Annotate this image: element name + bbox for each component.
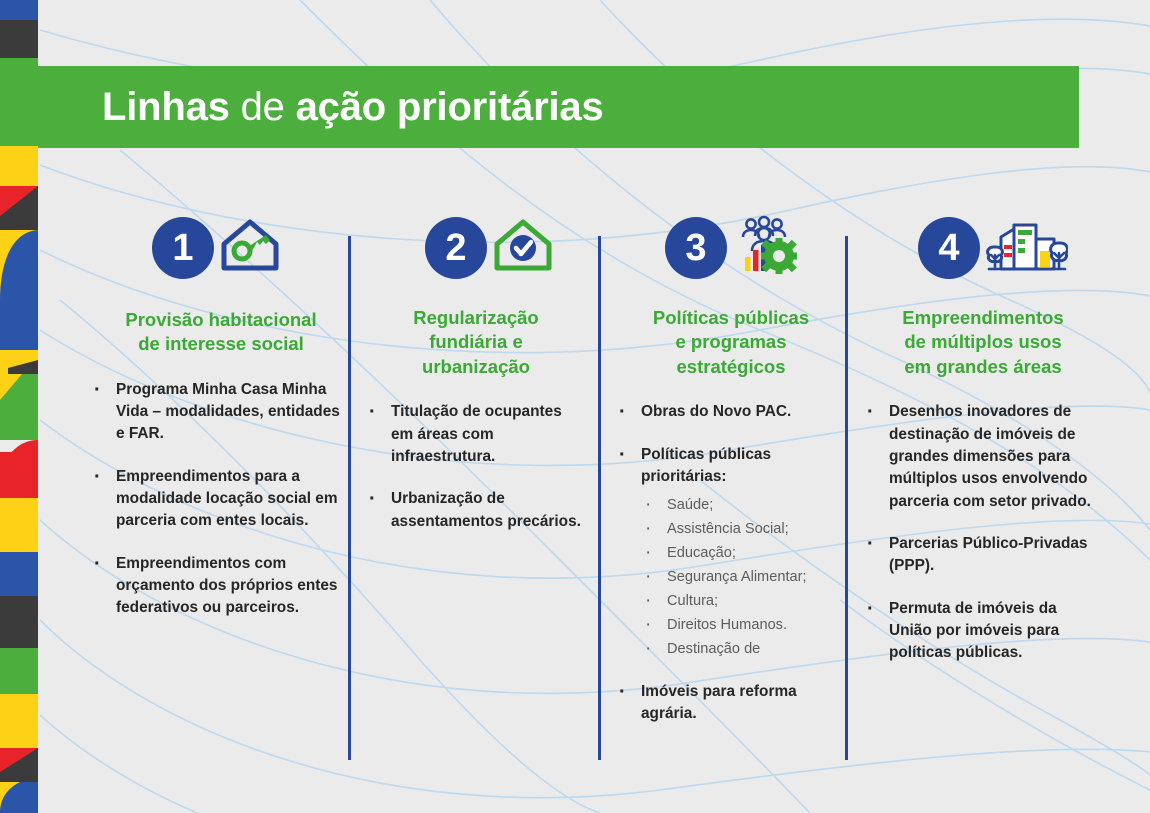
slide-canvas: Linhas de ação prioritárias 1 Provisão h… xyxy=(0,0,1150,813)
list-item: Permuta de imóveis da União por imóveis … xyxy=(863,598,1103,665)
column-1-heading-line-1: Provisão habitacional xyxy=(90,308,352,332)
list-item: Desenhos inovadores de destinação de imó… xyxy=(863,401,1103,513)
list-item: Urbanização de assentamentos precários. xyxy=(365,488,587,533)
list-item: Parcerias Público-Privadas (PPP). xyxy=(863,533,1103,578)
step-number-badge-4: 4 xyxy=(918,217,980,279)
column-4-heading-line-3: em grandes áreas xyxy=(863,355,1103,379)
column-2-heading-line-3: urbanização xyxy=(365,355,587,379)
column-1-icon-row: 1 xyxy=(90,212,352,284)
column-4-heading: Empreendimentos de múltiplos usos em gra… xyxy=(863,306,1103,379)
people-chart-gear-icon xyxy=(731,215,797,282)
column-4: 4 xyxy=(863,212,1103,685)
city-buildings-trees-icon xyxy=(984,217,1068,280)
list-item-label: Políticas públicas prioritárias: xyxy=(641,446,771,485)
column-4-icon-row: 4 xyxy=(863,212,1103,284)
column-3-heading-line-3: estratégicos xyxy=(615,355,847,379)
sub-list-item: Segurança Alimentar; xyxy=(641,566,847,589)
sub-list-item: Saúde; xyxy=(641,494,847,517)
list-item: Empreendimentos para a modalidade locaçã… xyxy=(90,466,352,533)
column-3-heading-line-2: e programas xyxy=(615,330,847,354)
list-item: Titulação de ocupantes em áreas com infr… xyxy=(365,401,587,468)
page-title-bold-1: Linhas xyxy=(102,85,230,129)
column-1-heading-line-2: de interesse social xyxy=(90,332,352,356)
column-4-heading-line-2: de múltiplos usos xyxy=(863,330,1103,354)
step-number-badge-3: 3 xyxy=(665,217,727,279)
column-2-heading-line-1: Regularização xyxy=(365,306,587,330)
house-check-icon xyxy=(491,216,555,281)
list-item: Programa Minha Casa Minha Vida – modalid… xyxy=(90,379,352,446)
sub-list-item: Destinação de xyxy=(641,638,847,661)
list-item: Empreendimentos com orçamento dos própri… xyxy=(90,553,352,620)
list-item: Obras do Novo PAC. xyxy=(615,401,847,423)
sub-list-item: Cultura; xyxy=(641,590,847,613)
sub-list-item: Direitos Humanos. xyxy=(641,614,847,637)
column-3-sub-list: Saúde; Assistência Social; Educação; Seg… xyxy=(641,494,847,660)
page-title-light: de xyxy=(230,85,296,129)
column-3-bullet-list: Obras do Novo PAC. Políticas públicas pr… xyxy=(615,401,847,725)
step-number-badge-1: 1 xyxy=(152,217,214,279)
page-title-bold-2: ação prioritárias xyxy=(296,85,604,129)
column-4-bullet-list: Desenhos inovadores de destinação de imó… xyxy=(863,401,1103,664)
columns-container: 1 Provisão habitacional de interesse soc… xyxy=(38,212,1150,792)
column-2-heading-line-2: fundiária e xyxy=(365,330,587,354)
column-2-heading: Regularização fundiária e urbanização xyxy=(365,306,587,379)
house-key-icon xyxy=(218,216,282,281)
step-number-badge-2: 2 xyxy=(425,217,487,279)
page-title: Linhas de ação prioritárias xyxy=(102,87,604,127)
column-2-bullet-list: Titulação de ocupantes em áreas com infr… xyxy=(365,401,587,533)
column-2-icon-row: 2 xyxy=(365,212,587,284)
column-1-bullet-list: Programa Minha Casa Minha Vida – modalid… xyxy=(90,379,352,620)
brand-color-strip xyxy=(0,0,38,813)
title-banner: Linhas de ação prioritárias xyxy=(38,66,1079,148)
sub-list-item: Assistência Social; xyxy=(641,518,847,541)
column-3-heading: Políticas públicas e programas estratégi… xyxy=(615,306,847,379)
list-item: Políticas públicas prioritárias: Saúde; … xyxy=(615,444,847,661)
sub-list-item: Educação; xyxy=(641,542,847,565)
column-3-heading-line-1: Políticas públicas xyxy=(615,306,847,330)
column-4-heading-line-1: Empreendimentos xyxy=(863,306,1103,330)
column-3-icon-row: 3 xyxy=(615,212,847,284)
list-item: Imóveis para reforma agrária. xyxy=(615,681,847,726)
column-2: 2 Regularização fundiária e urbanização … xyxy=(365,212,587,553)
column-1: 1 Provisão habitacional de interesse soc… xyxy=(90,212,352,640)
column-1-heading: Provisão habitacional de interesse socia… xyxy=(90,308,352,357)
column-3: 3 xyxy=(615,212,847,745)
